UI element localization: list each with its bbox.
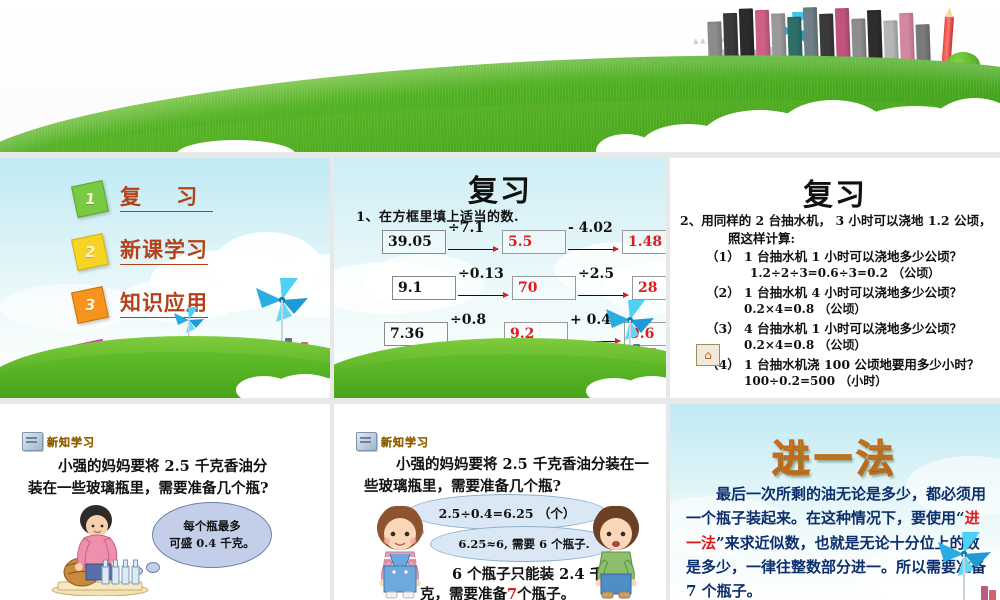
menu-item-label: 新课学习 [120,239,208,264]
equation-operator-2: - 4.02 [566,230,622,254]
mother-illustration [50,504,160,600]
slide3-answer-3: 0.2×4=0.8 （公顷） [744,336,866,353]
slide3-answer-2: 0.2×4=0.8 （公顷） [744,300,866,317]
menu-badge-number: 2 [84,243,97,261]
lesson-badge: 新知学习 [356,432,429,451]
header-banner [0,0,1000,152]
operator-label: ÷0.8 [450,312,486,328]
menu-badge-number: 3 [84,296,97,314]
equation-cell-mid[interactable]: 5.5 [502,230,566,254]
slide3-lead-line-2: 照这样计算: [728,228,795,247]
slide3-answer-4: 100÷0.2=500 （小时） [744,372,887,389]
menu-item-1[interactable]: 1 复 习 [0,176,330,222]
slide3-title: 复习 [670,170,1000,214]
slide2-subtitle: 1、在方框里填上适当的数. [356,206,519,225]
bubble-line-2: 可盛 0.4 千克。 [169,535,255,552]
slide-row-2: 新知学习 小强的妈妈要将 2.5 千克香油分 装在一些玻璃瓶里，需要准备几个瓶?… [0,404,1000,600]
book-icon [356,432,377,451]
lesson-text-line-1: 小强的妈妈要将 2.5 千克香油分 [58,456,267,478]
menu-badge-number: 1 [84,190,97,208]
lesson-badge-label: 新知学习 [381,434,429,450]
city-decoration [981,586,996,600]
menu-item-label: 复 习 [120,186,213,211]
equation-cell-end[interactable]: 28 [632,276,666,300]
home-icon[interactable]: ⌂ [696,344,720,366]
body-text-a: 最后一次所剩的油无论是多少，都必须用一个瓶子装起来。在这种情况下，要使用“ [686,485,986,527]
conclusion-highlight: 7 [507,586,517,600]
slide-round-up-method[interactable]: 进一法 最后一次所剩的油无论是多少，都必须用一个瓶子装起来。在这种情况下，要使用… [670,404,1000,600]
slide-row-1: 1 复 习 2 新课学习 3 知识应用 [0,158,1000,398]
slide-new-lesson-solution[interactable]: 新知学习 小强的妈妈要将 2.5 千克香油分装在一 些玻璃瓶里，需要准备几个瓶?… [334,404,666,600]
equation-row-2: 9.1 ÷0.13 70 ÷2.5 28 [392,276,666,300]
operator-label: ÷2.5 [578,266,614,282]
operator-label: ÷7.1 [448,220,484,236]
equation-cell-end[interactable]: 1.48 [622,230,666,254]
slide3-answer-1: 1.2÷2÷3=0.6÷3=0.2 （公顷） [750,264,940,281]
slide-contents-menu[interactable]: 1 复 习 2 新课学习 3 知识应用 [0,158,330,398]
thought-bubble: 每个瓶最多 可盛 0.4 千克。 [152,502,272,568]
slide3-question-3: （3） 4 台抽水机 1 小时可以浇地多少公顷？ [706,318,962,337]
arrow-icon [568,249,618,250]
solution-bubble-1: 2.5÷0.4=6.25 （个） [408,494,606,530]
slide2-title: 复习 [334,166,666,210]
slide3-question-1: （1） 1 台抽水机 1 小时可以浇地多少公顷？ [706,246,962,265]
operator-label: - 4.02 [568,220,613,236]
presentation-thumbnail-sheet: 1 复 习 2 新课学习 3 知识应用 [0,0,1000,600]
lesson-badge: 新知学习 [22,432,95,451]
arrow-icon [448,249,498,250]
equation-operator-1: ÷7.1 [446,230,502,254]
lesson-text-line-2: 装在一些玻璃瓶里，需要准备几个瓶? [28,478,269,500]
equation-cell-start[interactable]: 39.05 [382,230,446,254]
operator-label: ÷0.13 [458,266,504,282]
girl-illustration [364,504,436,600]
arrow-icon [578,295,628,296]
menu-badge-3: 3 [71,286,109,324]
slide3-question-4: （4） 1 台抽水机浇 100 公顷地要用多少小时？ [706,354,979,373]
equation-operator-1: ÷0.13 [456,276,512,300]
menu-badge-1: 1 [71,180,109,218]
conclusion-text-b: 个瓶子。 [517,586,575,600]
slide-review-word-problem[interactable]: 复习 2、用同样的 2 台抽水机， 3 小时可以浇地 1.2 公顷， 照这样计算… [670,158,1000,398]
slide-review-fill-boxes[interactable]: 复习 1、在方框里填上适当的数. 39.05 ÷7.1 5.5 - 4.02 1… [334,158,666,398]
lesson-badge-label: 新知学习 [47,434,95,450]
slide3-lead-line-1: 2、用同样的 2 台抽水机， 3 小时可以浇地 1.2 公顷， [680,210,991,229]
lesson-text-line-1: 小强的妈妈要将 2.5 千克香油分装在一 [396,454,649,476]
slide3-question-2: （2） 1 台抽水机 4 小时可以浇地多少公顷？ [706,282,962,301]
menu-item-2[interactable]: 2 新课学习 [0,229,330,275]
equation-operator-2: ÷2.5 [576,276,632,300]
arrow-icon [458,295,508,296]
book-icon [22,432,43,451]
conclusion-line-2: 克，需要准备7个瓶子。 [420,584,575,600]
slide6-title: 进一法 [670,428,1000,483]
menu-badge-2: 2 [71,233,109,271]
equation-cell-mid[interactable]: 70 [512,276,576,300]
bubble-line-1: 每个瓶最多 [183,518,241,535]
slide-new-lesson-question[interactable]: 新知学习 小强的妈妈要将 2.5 千克香油分 装在一些玻璃瓶里，需要准备几个瓶?… [0,404,330,600]
boy-illustration [580,504,652,600]
equation-cell-start[interactable]: 9.1 [392,276,456,300]
equation-row-1: 39.05 ÷7.1 5.5 - 4.02 1.48 [382,230,666,254]
